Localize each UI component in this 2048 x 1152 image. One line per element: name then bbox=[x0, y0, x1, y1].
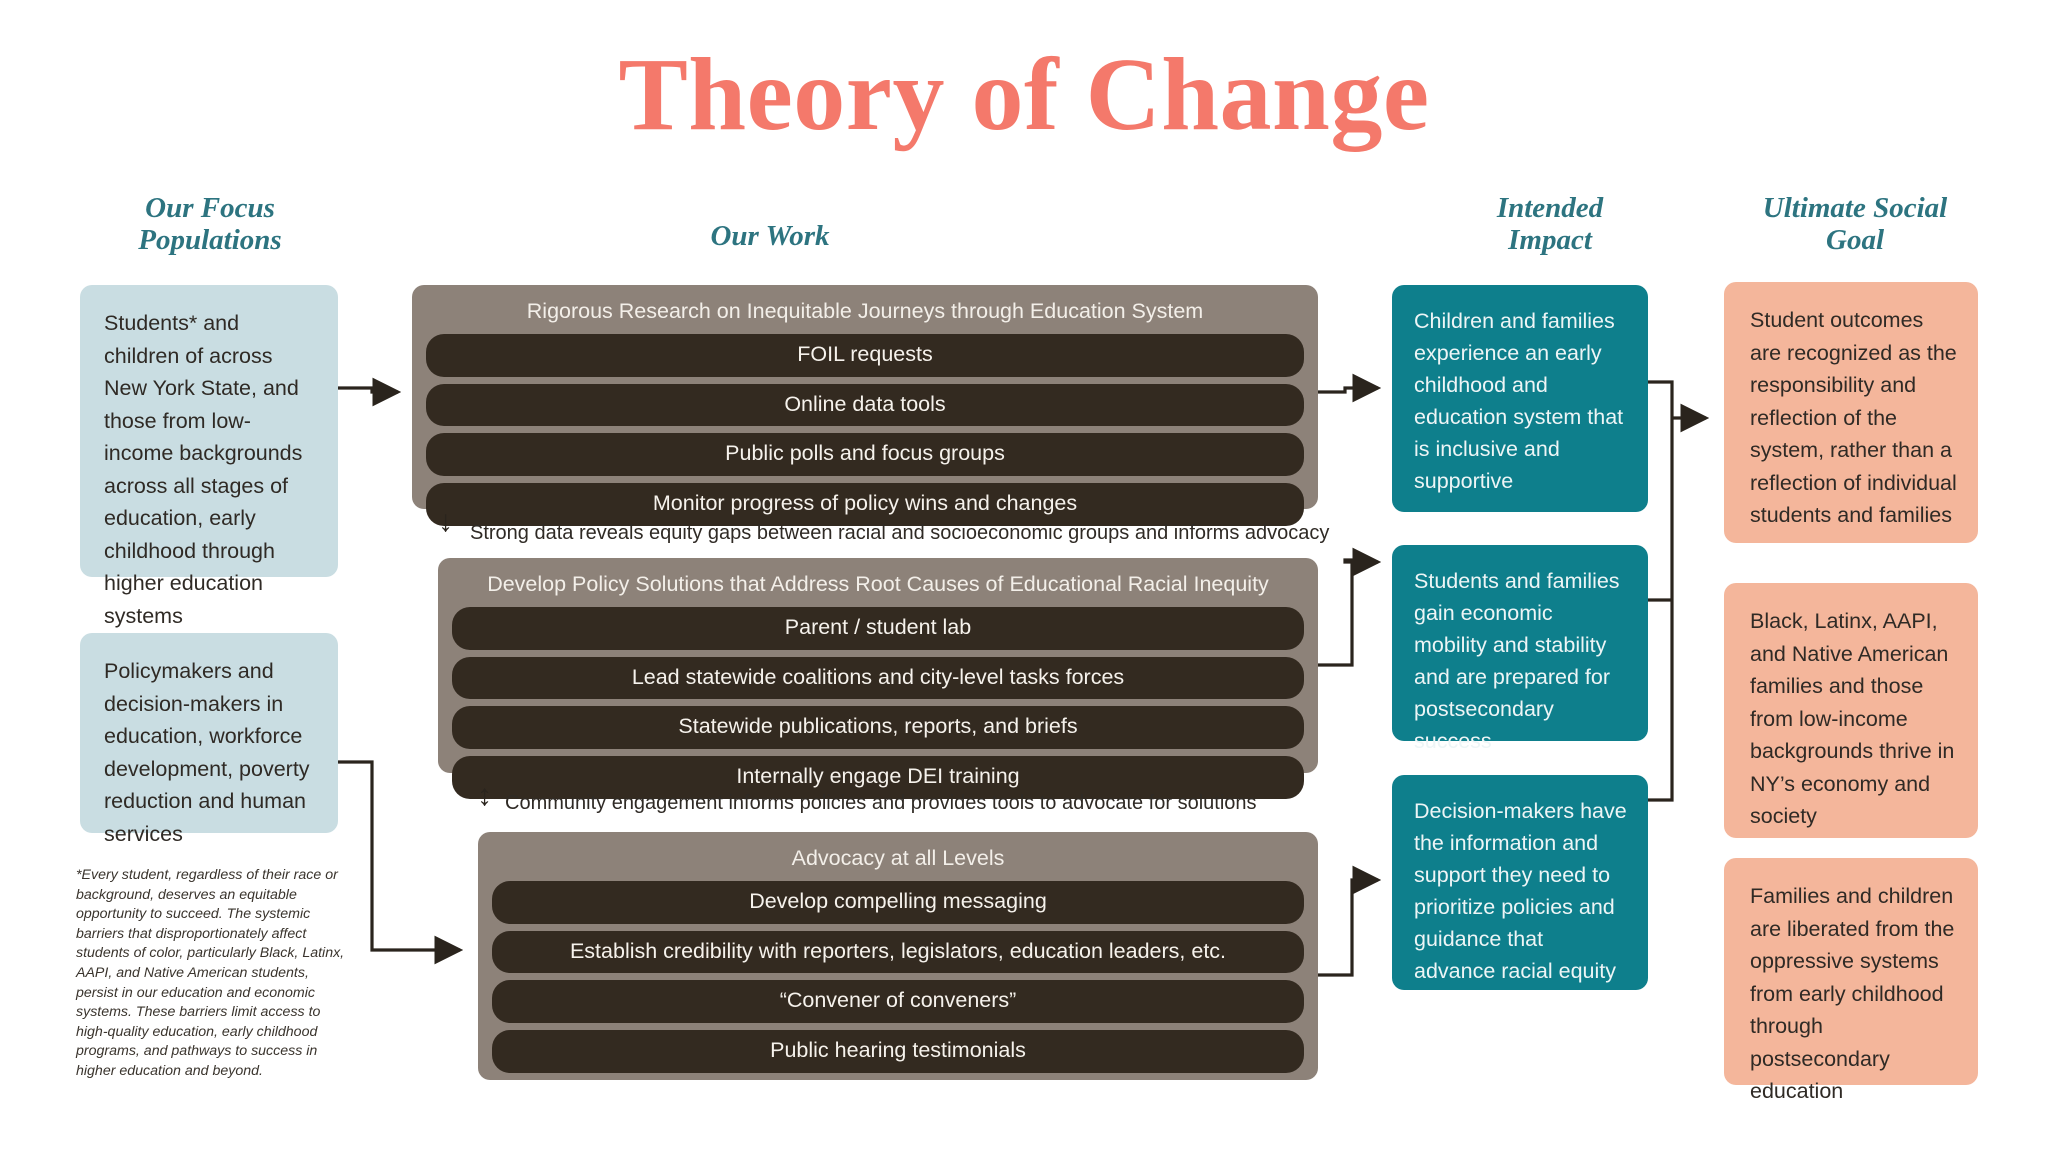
column-heading-impact-line1: Intended bbox=[1400, 192, 1700, 224]
work-item[interactable]: Public polls and focus groups bbox=[426, 433, 1304, 476]
column-heading-ultimate-social-goal: Ultimate Social Goal bbox=[1700, 192, 2010, 257]
footnote-text: *Every student, regardless of their race… bbox=[76, 866, 346, 1082]
intended-impact-box: Children and families experience an earl… bbox=[1392, 285, 1648, 512]
column-heading-focus-line1: Our Focus bbox=[30, 192, 390, 224]
focus-population-box: Students* and children of across New Yor… bbox=[80, 285, 338, 577]
work-item[interactable]: Statewide publications, reports, and bri… bbox=[452, 706, 1304, 749]
column-heading-impact-line2: Impact bbox=[1400, 224, 1700, 256]
flow-note: Strong data reveals equity gaps between … bbox=[470, 521, 1329, 545]
down-arrow-icon: ↓ bbox=[438, 505, 453, 539]
focus-population-box: Policymakers and decision-makers in educ… bbox=[80, 633, 338, 833]
column-heading-focus-populations: Our Focus Populations bbox=[30, 192, 390, 257]
column-heading-goal-line2: Goal bbox=[1700, 224, 2010, 256]
work-group-title: Develop Policy Solutions that Address Ro… bbox=[452, 572, 1304, 598]
page-title: Theory of Change bbox=[0, 40, 2048, 149]
work-group: Develop Policy Solutions that Address Ro… bbox=[438, 558, 1318, 773]
work-item[interactable]: Parent / student lab bbox=[452, 607, 1304, 650]
column-heading-goal-line1: Ultimate Social bbox=[1700, 192, 2010, 224]
work-item[interactable]: Develop compelling messaging bbox=[492, 881, 1304, 924]
work-group-title: Advocacy at all Levels bbox=[492, 846, 1304, 872]
work-item[interactable]: “Convener of conveners” bbox=[492, 980, 1304, 1023]
up-down-arrow-icon: ↕ bbox=[477, 779, 492, 813]
work-item[interactable]: Public hearing testimonials bbox=[492, 1030, 1304, 1073]
column-heading-our-work: Our Work bbox=[560, 220, 980, 252]
column-heading-focus-line2: Populations bbox=[30, 224, 390, 256]
work-item[interactable]: Lead statewide coalitions and city-level… bbox=[452, 657, 1304, 700]
work-item[interactable]: Monitor progress of policy wins and chan… bbox=[426, 483, 1304, 526]
work-group-title: Rigorous Research on Inequitable Journey… bbox=[426, 299, 1304, 325]
ultimate-goal-box: Families and children are liberated from… bbox=[1724, 858, 1978, 1085]
intended-impact-box: Students and families gain economic mobi… bbox=[1392, 545, 1648, 741]
work-group: Rigorous Research on Inequitable Journey… bbox=[412, 285, 1318, 509]
flow-note: Community engagement informs policies an… bbox=[505, 791, 1257, 815]
intended-impact-box: Decision-makers have the information and… bbox=[1392, 775, 1648, 990]
work-item[interactable]: FOIL requests bbox=[426, 334, 1304, 377]
theory-of-change-diagram: Theory of Change Our Focus Populations O… bbox=[0, 0, 2048, 1152]
work-item[interactable]: Establish credibility with reporters, le… bbox=[492, 931, 1304, 974]
column-heading-intended-impact: Intended Impact bbox=[1400, 192, 1700, 257]
work-item[interactable]: Online data tools bbox=[426, 384, 1304, 427]
work-group: Advocacy at all Levels Develop compellin… bbox=[478, 832, 1318, 1080]
ultimate-goal-box: Black, Latinx, AAPI, and Native American… bbox=[1724, 583, 1978, 838]
ultimate-goal-box: Student outcomes are recognized as the r… bbox=[1724, 282, 1978, 543]
